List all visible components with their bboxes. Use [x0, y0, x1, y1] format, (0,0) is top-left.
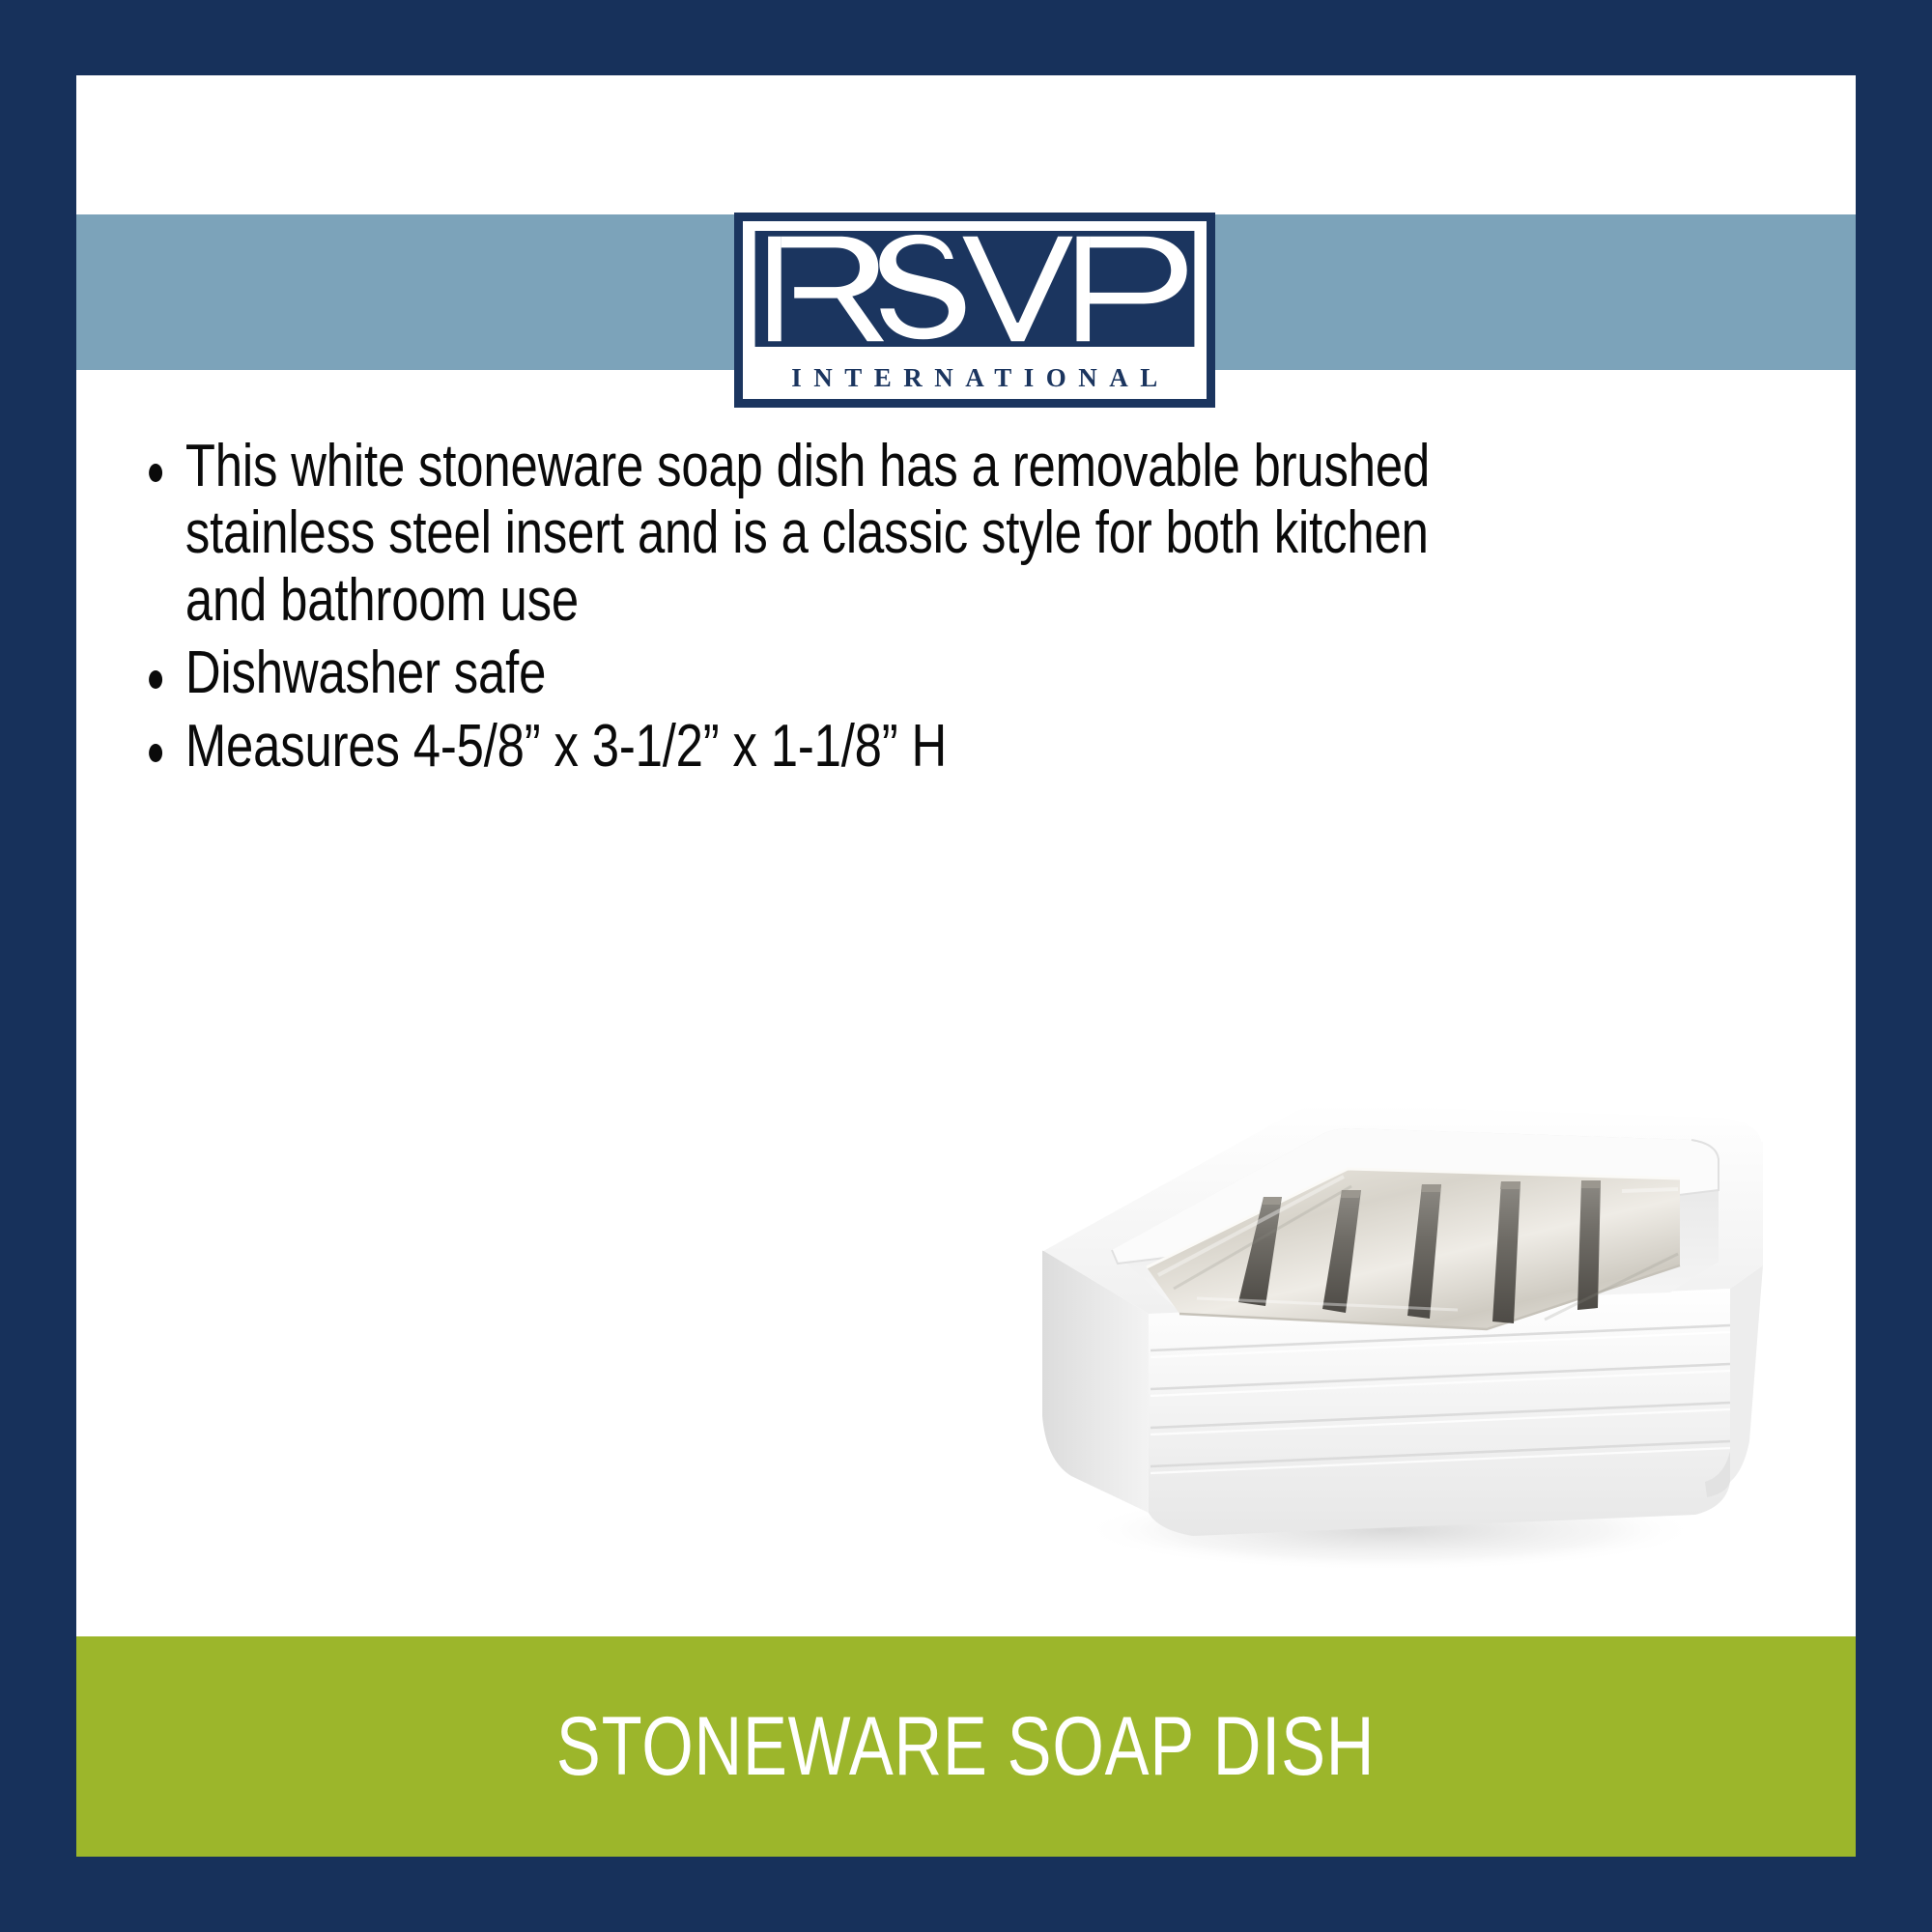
rsvp-logo-icon: [754, 231, 1195, 347]
product-title: STONEWARE SOAP DISH: [556, 1705, 1375, 1788]
rsvp-logo: INTERNATIONAL: [734, 213, 1215, 408]
content-area: INTERNATIONAL This white stoneware soap …: [76, 75, 1856, 1857]
product-info-card: INTERNATIONAL This white stoneware soap …: [0, 0, 1932, 1932]
soap-dish-photo-icon: [1004, 1061, 1796, 1602]
feature-bullet-1: This white stoneware soap dish has a rem…: [136, 433, 1480, 634]
feature-list: This white stoneware soap dish has a rem…: [136, 433, 1431, 785]
product-photo: [1004, 1061, 1796, 1602]
footer-banner: STONEWARE SOAP DISH: [76, 1636, 1856, 1857]
logo-subtitle: INTERNATIONAL: [780, 365, 1170, 391]
feature-bullet-3: Measures 4-5/8” x 3-1/2” x 1-1/8” H: [136, 713, 1480, 780]
feature-bullet-2: Dishwasher safe: [136, 639, 1480, 706]
